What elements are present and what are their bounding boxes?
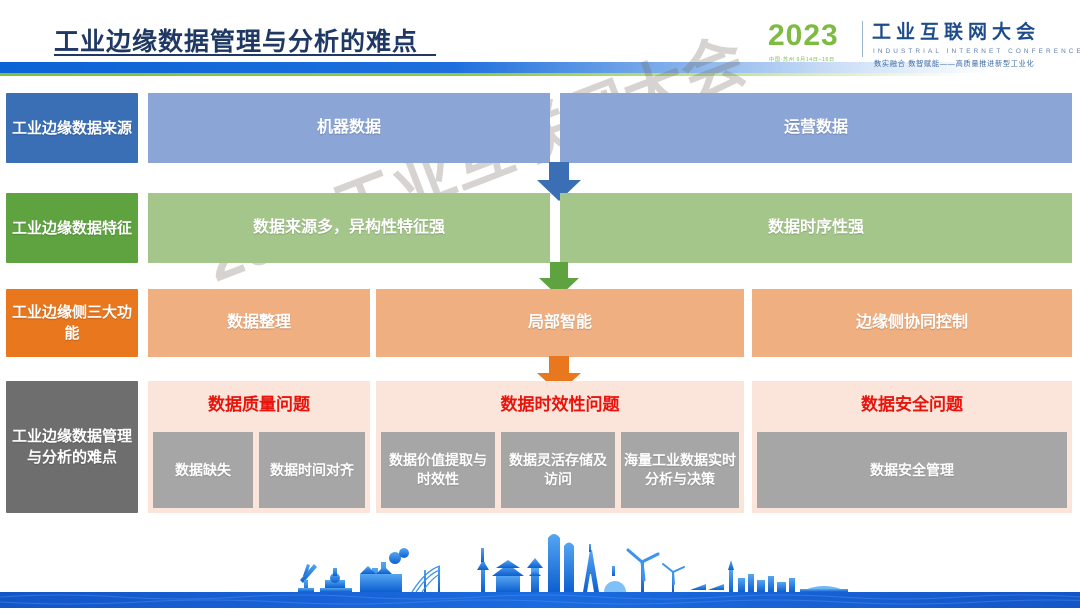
logo-year-subtext: 中国·苏州 9月14日–16日 xyxy=(769,56,835,63)
sub-cell-realtime-analysis: 海量工业数据实时分析与决策 xyxy=(621,432,739,508)
conference-logo: 2023 中国·苏州 9月14日–16日 工业互联网大会 INDUSTRIAL … xyxy=(768,17,1076,73)
sub-cell-value-extraction: 数据价值提取与时效性 xyxy=(381,432,495,508)
row1-cell-operation-data: 运营数据 xyxy=(560,93,1072,163)
footer-skyline xyxy=(0,518,1080,608)
header-green-bar xyxy=(0,73,1080,76)
row-label-data-source: 工业边缘数据来源 xyxy=(6,93,138,163)
logo-chinese-name: 工业互联网大会 xyxy=(872,21,1040,45)
row-label-difficulties: 工业边缘数据管理与分析的难点 xyxy=(6,381,138,513)
row2-cell-time-series: 数据时序性强 xyxy=(560,193,1072,263)
sub-cell-time-alignment: 数据时间对齐 xyxy=(259,432,365,508)
title-underline xyxy=(54,54,436,56)
row3-cell-edge-coordination: 边缘侧协同控制 xyxy=(752,289,1072,357)
group-title-data-quality: 数据质量问题 xyxy=(148,381,370,424)
row3-cell-data-organize: 数据整理 xyxy=(148,289,370,357)
logo-tagline: 数实融合 数智赋能——高质量推进新型工业化 xyxy=(874,59,1034,69)
slide-root: 工业边缘数据管理与分析的难点 2023 中国·苏州 9月14日–16日 工业互联… xyxy=(0,0,1080,608)
logo-year: 2023 xyxy=(768,19,839,53)
row-label-data-feature: 工业边缘数据特征 xyxy=(6,193,138,263)
row-label-three-functions: 工业边缘侧三大功能 xyxy=(6,289,138,357)
row2-cell-heterogeneous: 数据来源多，异构性特征强 xyxy=(148,193,550,263)
row1-cell-machine-data: 机器数据 xyxy=(148,93,550,163)
logo-divider xyxy=(862,21,863,57)
row3-cell-local-intelligence: 局部智能 xyxy=(376,289,744,357)
sub-cell-data-missing: 数据缺失 xyxy=(153,432,253,508)
group-title-data-timeliness: 数据时效性问题 xyxy=(376,381,744,424)
logo-english-name: INDUSTRIAL INTERNET CONFERENCE xyxy=(873,48,1080,55)
page-title: 工业边缘数据管理与分析的难点 xyxy=(54,22,418,58)
sub-cell-flexible-storage: 数据灵活存储及访问 xyxy=(501,432,615,508)
group-title-data-security: 数据安全问题 xyxy=(752,381,1072,424)
sub-cell-security-management: 数据安全管理 xyxy=(757,432,1067,508)
